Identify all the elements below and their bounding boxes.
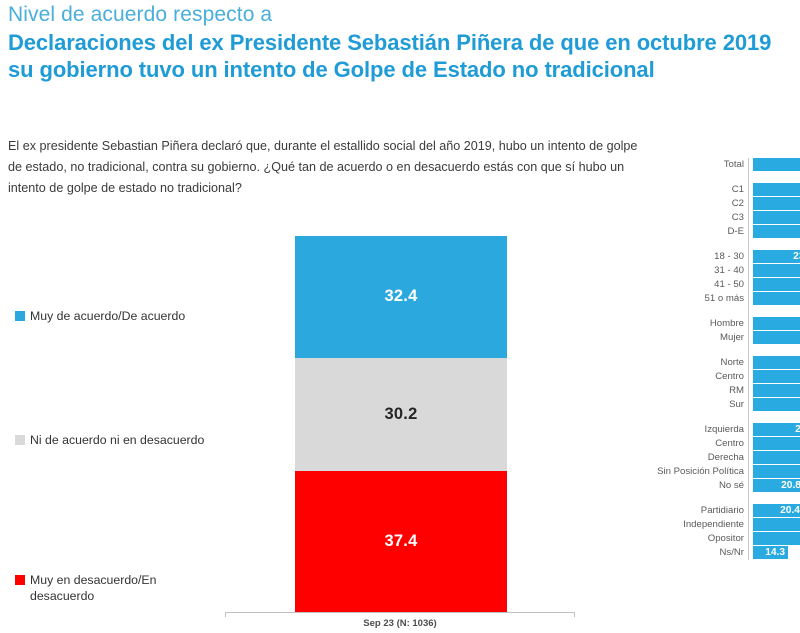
breakdown-row: Independiente25 — [648, 518, 800, 532]
breakdown-bar-track — [753, 384, 800, 398]
breakdown-row-label: Mujer — [648, 331, 748, 345]
breakdown-bar-track: 2 — [753, 225, 800, 239]
breakdown-bar-track — [753, 211, 800, 225]
breakdown-bar-track — [753, 451, 800, 465]
breakdown-row-label: Partidiario — [648, 504, 748, 518]
legend-label-disagree: Muy en desacuerdo/En desacuerdo — [30, 572, 190, 604]
breakdown-bar[interactable]: 3 — [753, 331, 800, 344]
breakdown-row-label: Independiente — [648, 518, 748, 532]
breakdown-bar-track: 25 — [753, 518, 800, 532]
breakdown-bar[interactable] — [753, 292, 800, 305]
breakdown-row-label: Centro — [648, 370, 748, 384]
breakdown-row-label: Centro — [648, 437, 748, 451]
chart-headline: Declaraciones del ex Presidente Sebastiá… — [8, 30, 780, 83]
breakdown-row: No sé20.8 — [648, 479, 800, 493]
breakdown-bar[interactable] — [753, 384, 800, 397]
breakdown-bar-track — [753, 437, 800, 451]
breakdown-row: Derecha — [648, 451, 800, 465]
breakdown-bar-track: 3 — [753, 331, 800, 345]
breakdown-bar-track: 3 — [753, 264, 800, 278]
breakdown-bar-value: 24. — [795, 423, 800, 436]
chart-kicker: Nivel de acuerdo respecto a — [8, 2, 788, 28]
breakdown-bar[interactable] — [753, 197, 800, 210]
breakdown-row-label: 51 o más — [648, 292, 748, 306]
breakdown-row: 41 - 503 — [648, 278, 800, 292]
breakdown-bar[interactable] — [753, 317, 800, 330]
breakdown-row-label: D-E — [648, 225, 748, 239]
legend-item-agree[interactable]: Muy de acuerdo/De acuerdo — [15, 308, 185, 324]
breakdown-row: 31 - 403 — [648, 264, 800, 278]
breakdown-row-label: Sur — [648, 398, 748, 412]
breakdown-bar-track — [753, 532, 800, 546]
breakdown-row-label: No sé — [648, 479, 748, 493]
breakdown-bar[interactable]: 14.3 — [753, 546, 788, 559]
main-stacked-bar-chart: 32.4 30.2 37.4 Sep 23 (N: 1036) — [225, 236, 575, 633]
breakdown-row-label: Sin Posición Política — [648, 465, 748, 479]
breakdown-row-label: Izquierda — [648, 423, 748, 437]
breakdown-bar-track: 20.8 — [753, 479, 800, 493]
breakdown-row: Centro — [648, 437, 800, 451]
breakdown-bar-value: 20.4 — [780, 504, 800, 517]
breakdown-bar-track — [753, 317, 800, 331]
breakdown-row: Norte — [648, 356, 800, 370]
breakdown-row-label: Hombre — [648, 317, 748, 331]
breakdown-bar[interactable]: 3 — [753, 158, 800, 171]
breakdown-row-label: 31 - 40 — [648, 264, 748, 278]
breakdown-row-label: Derecha — [648, 451, 748, 465]
breakdown-bar-track: 2 — [753, 398, 800, 412]
legend-swatch-disagree — [15, 575, 25, 585]
breakdown-row-label: Total — [648, 158, 748, 172]
breakdown-bar[interactable] — [753, 451, 800, 464]
breakdown-bar[interactable] — [753, 437, 800, 450]
breakdown-bar-track: 3 — [753, 158, 800, 172]
legend-label-neutral: Ni de acuerdo ni en desacuerdo — [30, 432, 204, 448]
legend-label-agree: Muy de acuerdo/De acuerdo — [30, 308, 185, 324]
breakdown-bar[interactable] — [753, 356, 800, 369]
breakdown-row: Opositor — [648, 532, 800, 546]
breakdown-row: Sin Posición Política26 — [648, 465, 800, 479]
breakdown-bar-track — [753, 370, 800, 384]
breakdown-row: Hombre — [648, 317, 800, 331]
breakdown-bar-track: 3 — [753, 278, 800, 292]
breakdown-bar-track: 26 — [753, 465, 800, 479]
breakdown-bar-track — [753, 356, 800, 370]
breakdown-bar[interactable]: 23. — [753, 250, 800, 263]
breakdown-row: C2 — [648, 197, 800, 211]
breakdown-bar[interactable] — [753, 211, 800, 224]
breakdown-bar[interactable]: 25 — [753, 518, 800, 531]
x-axis-line — [225, 612, 575, 613]
breakdown-row-label: 41 - 50 — [648, 278, 748, 292]
breakdown-row: Ns/Nr14.3 — [648, 546, 800, 560]
breakdown-row-label: C3 — [648, 211, 748, 225]
breakdown-row: Total3 — [648, 158, 800, 172]
breakdown-row-label: Opositor — [648, 532, 748, 546]
breakdown-row-label: RM — [648, 384, 748, 398]
breakdown-row: Izquierda24. — [648, 423, 800, 437]
breakdown-row: 18 - 3023. — [648, 250, 800, 264]
breakdown-row: C3 — [648, 211, 800, 225]
breakdown-bar-track: 14.3 — [753, 546, 800, 560]
legend-swatch-neutral — [15, 435, 25, 445]
breakdown-bar[interactable] — [753, 532, 800, 545]
stacked-column: 32.4 30.2 37.4 — [295, 236, 507, 612]
segment-disagree[interactable]: 37.4 — [295, 471, 507, 612]
breakdown-bar-track: 23. — [753, 250, 800, 264]
breakdown-bar[interactable]: 26 — [753, 465, 800, 478]
segment-agree[interactable]: 32.4 — [295, 236, 507, 358]
breakdown-bar[interactable]: 20.8 — [753, 479, 800, 492]
x-axis-category-label: Sep 23 (N: 1036) — [225, 618, 575, 629]
breakdown-bar-value: 14.3 — [765, 546, 785, 559]
breakdown-row: C13 — [648, 183, 800, 197]
breakdown-bar-track: 3 — [753, 183, 800, 197]
breakdown-bar[interactable]: 2 — [753, 398, 800, 411]
legend-swatch-agree — [15, 311, 25, 321]
breakdown-bar-track: 20.4 — [753, 504, 800, 518]
legend-item-disagree[interactable]: Muy en desacuerdo/En desacuerdo — [15, 572, 190, 604]
breakdown-bar-track — [753, 197, 800, 211]
breakdown-row: RM — [648, 384, 800, 398]
breakdown-bar[interactable]: 3 — [753, 183, 800, 196]
breakdown-bar[interactable]: 20.4 — [753, 504, 800, 517]
segment-neutral[interactable]: 30.2 — [295, 358, 507, 472]
survey-question-text: El ex presidente Sebastian Piñera declar… — [8, 136, 648, 199]
breakdown-row: D-E2 — [648, 225, 800, 239]
breakdown-panel: Total3C13C2C3D-E218 - 3023.31 - 40341 - … — [648, 158, 800, 628]
breakdown-bar-track: 24. — [753, 423, 800, 437]
chart-header: Nivel de acuerdo respecto a Declaracione… — [8, 2, 788, 83]
legend-item-neutral[interactable]: Ni de acuerdo ni en desacuerdo — [15, 432, 204, 448]
breakdown-row-label: C2 — [648, 197, 748, 211]
breakdown-bar-track — [753, 292, 800, 306]
breakdown-row-label: C1 — [648, 183, 748, 197]
breakdown-bar[interactable]: 2 — [753, 225, 800, 238]
breakdown-row-label: Norte — [648, 356, 748, 370]
breakdown-bar[interactable]: 3 — [753, 278, 800, 291]
breakdown-row-label: 18 - 30 — [648, 250, 748, 264]
breakdown-bar[interactable]: 24. — [753, 423, 800, 436]
breakdown-row: Sur2 — [648, 398, 800, 412]
breakdown-row: Centro — [648, 370, 800, 384]
breakdown-bar-value: 20.8 — [781, 479, 800, 492]
breakdown-row: Mujer3 — [648, 331, 800, 345]
breakdown-row-label: Ns/Nr — [648, 546, 748, 560]
breakdown-row: Partidiario20.4 — [648, 504, 800, 518]
breakdown-bar-value: 23. — [793, 250, 800, 263]
breakdown-bar[interactable]: 3 — [753, 264, 800, 277]
breakdown-bar[interactable] — [753, 370, 800, 383]
breakdown-row: 51 o más — [648, 292, 800, 306]
